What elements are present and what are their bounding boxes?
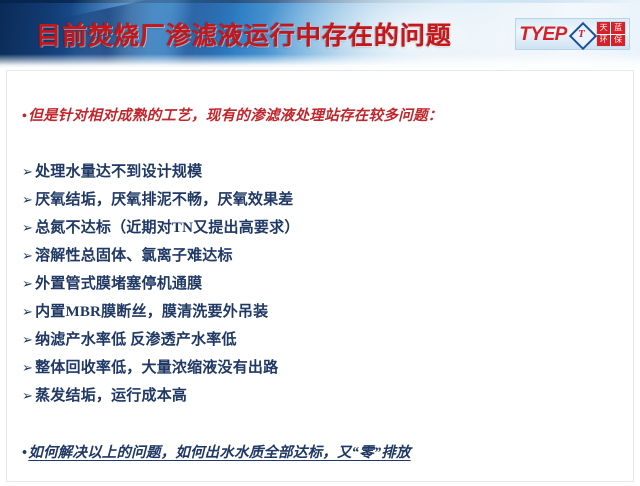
arrow-bullet-icon: ➢ [22,250,33,263]
list-item: ➢ 外置管式膜堵塞停机通膜 [22,272,612,300]
list-item: ➢ 溶解性总固体、氯离子难达标 [22,244,612,272]
arrow-bullet-icon: ➢ [22,166,33,179]
list-item: ➢ 内置MBR膜断丝，膜清洗要外吊装 [22,300,612,328]
list-item: ➢ 总氮不达标（近期对TN又提出高要求） [22,216,612,244]
logo-cjk-char-4: 保 [611,35,625,47]
list-item: ➢ 纳滤产水率低 反渗透产水率低 [22,328,612,356]
closing-bullet-dot: • [22,445,27,462]
arrow-bullet-icon: ➢ [22,390,33,403]
logo-cjk-char-1: 天 [597,22,611,34]
arrow-bullet-icon: ➢ [22,278,33,291]
slide-body: •但是针对相对成熟的工艺，现有的渗滤液处理站存在较多问题： ➢ 处理水量达不到设… [0,68,640,486]
closing-question: •如何解决以上的问题，如何出水水质全部达标，又“零”排放 [22,441,411,462]
list-item-label: 总氮不达标（近期对TN又提出高要求） [35,216,299,237]
list-item-label: 溶解性总固体、氯离子难达标 [35,244,233,265]
logo-diamond-icon: T [570,23,593,46]
lead-statement: •但是针对相对成熟的工艺，现有的渗滤液处理站存在较多问题： [22,104,443,125]
list-item: ➢ 厌氧结垢，厌氧排泥不畅，厌氧效果差 [22,188,612,216]
list-item-label: 纳滤产水率低 反渗透产水率低 [35,328,237,349]
list-item-label: 蒸发结垢，运行成本高 [35,384,187,405]
list-item: ➢ 整体回收率低，大量浓缩液没有出路 [22,356,612,384]
slide-root: 目前焚烧厂渗滤液运行中存在的问题 TYEP T 天 蓝 环 保 •但是针对相对成… [0,0,640,486]
company-logo: TYEP T 天 蓝 环 保 [515,18,630,50]
lead-statement-text: 但是针对相对成熟的工艺，现有的渗滤液处理站存在较多问题： [28,108,442,124]
logo-cjk-block: 天 蓝 环 保 [596,21,626,47]
logo-wordmark: TYEP [519,25,567,44]
logo-diamond-letter: T [570,23,593,46]
arrow-bullet-icon: ➢ [22,362,33,375]
page-title: 目前焚烧厂渗滤液运行中存在的问题 [36,16,452,52]
list-item-label: 处理水量达不到设计规模 [35,160,202,181]
arrow-bullet-icon: ➢ [22,222,33,235]
lead-bullet-dot: • [22,109,27,124]
closing-question-text: 如何解决以上的问题，如何出水水质全部达标，又“零”排放 [28,445,410,461]
list-item: ➢ 蒸发结垢，运行成本高 [22,384,612,412]
list-item: ➢ 处理水量达不到设计规模 [22,160,612,188]
list-item-label: 厌氧结垢，厌氧排泥不畅，厌氧效果差 [35,188,293,209]
list-item-label: 外置管式膜堵塞停机通膜 [35,272,202,293]
arrow-bullet-icon: ➢ [22,194,33,207]
arrow-bullet-icon: ➢ [22,334,33,347]
arrow-bullet-icon: ➢ [22,306,33,319]
header-top-accent-line [0,0,640,3]
list-item-label: 内置MBR膜断丝，膜清洗要外吊装 [35,300,268,321]
header-bottom-fade [0,54,640,68]
problem-list: ➢ 处理水量达不到设计规模 ➢ 厌氧结垢，厌氧排泥不畅，厌氧效果差 ➢ 总氮不达… [22,160,612,412]
slide-header-banner: 目前焚烧厂渗滤液运行中存在的问题 TYEP T 天 蓝 环 保 [0,0,640,68]
list-item-label: 整体回收率低，大量浓缩液没有出路 [35,356,278,377]
logo-cjk-char-3: 环 [597,35,611,47]
logo-cjk-char-2: 蓝 [611,22,625,34]
